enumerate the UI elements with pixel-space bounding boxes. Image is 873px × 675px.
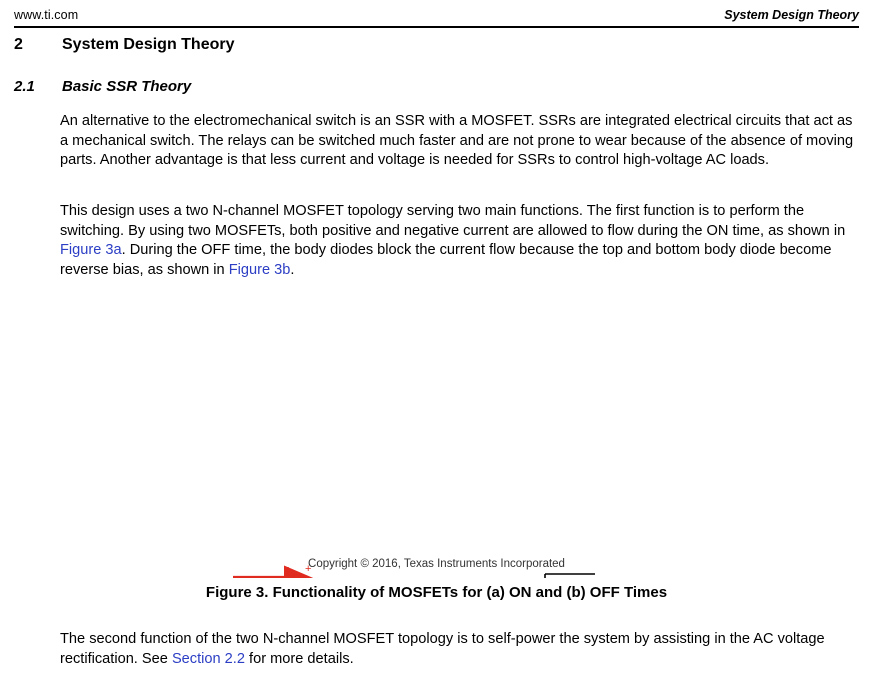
main-trunk-wire-b — [545, 574, 595, 578]
paragraph-second-function-text-b: for more details. — [245, 651, 354, 667]
subsection-number: 2.1 — [14, 78, 62, 95]
svg-text:AC: AC — [291, 573, 305, 578]
paragraph-topology: This design uses a two N-channel MOSFET … — [60, 202, 860, 280]
link-figure-3a[interactable]: Figure 3a — [60, 242, 122, 258]
section-heading: 2System Design Theory — [14, 36, 235, 54]
link-figure-3b[interactable]: Figure 3b — [229, 262, 291, 278]
paragraph-topology-text-a: This design uses a two N-channel MOSFET … — [60, 203, 845, 239]
diagram-b-off-state: OFF OFF Reverse bias Reverse bias I AC — [465, 574, 740, 578]
figure-caption: Figure 3. Functionality of MOSFETs for (… — [0, 584, 873, 601]
paragraph-topology-text-c: . — [290, 262, 294, 278]
section-title: System Design Theory — [62, 36, 235, 53]
paragraph-intro-text: An alternative to the electromechanical … — [60, 113, 853, 168]
header-site-url: www.ti.com — [14, 8, 78, 22]
figure-copyright: Copyright © 2016, Texas Instruments Inco… — [0, 558, 873, 570]
paragraph-intro: An alternative to the electromechanical … — [60, 112, 860, 171]
paragraph-topology-text-b: . During the OFF time, the body diodes b… — [60, 242, 831, 278]
subsection-heading: 2.1Basic SSR Theory — [14, 78, 191, 95]
subsection-title: Basic SSR Theory — [62, 78, 191, 95]
paragraph-second-function: The second function of the two N-channel… — [60, 630, 860, 669]
section-number: 2 — [14, 36, 62, 54]
header-section-title: System Design Theory — [724, 8, 859, 22]
figure-3-graphic: + — [0, 278, 873, 578]
header-rule — [14, 26, 859, 28]
link-section-2-2[interactable]: Section 2.2 — [172, 651, 245, 667]
